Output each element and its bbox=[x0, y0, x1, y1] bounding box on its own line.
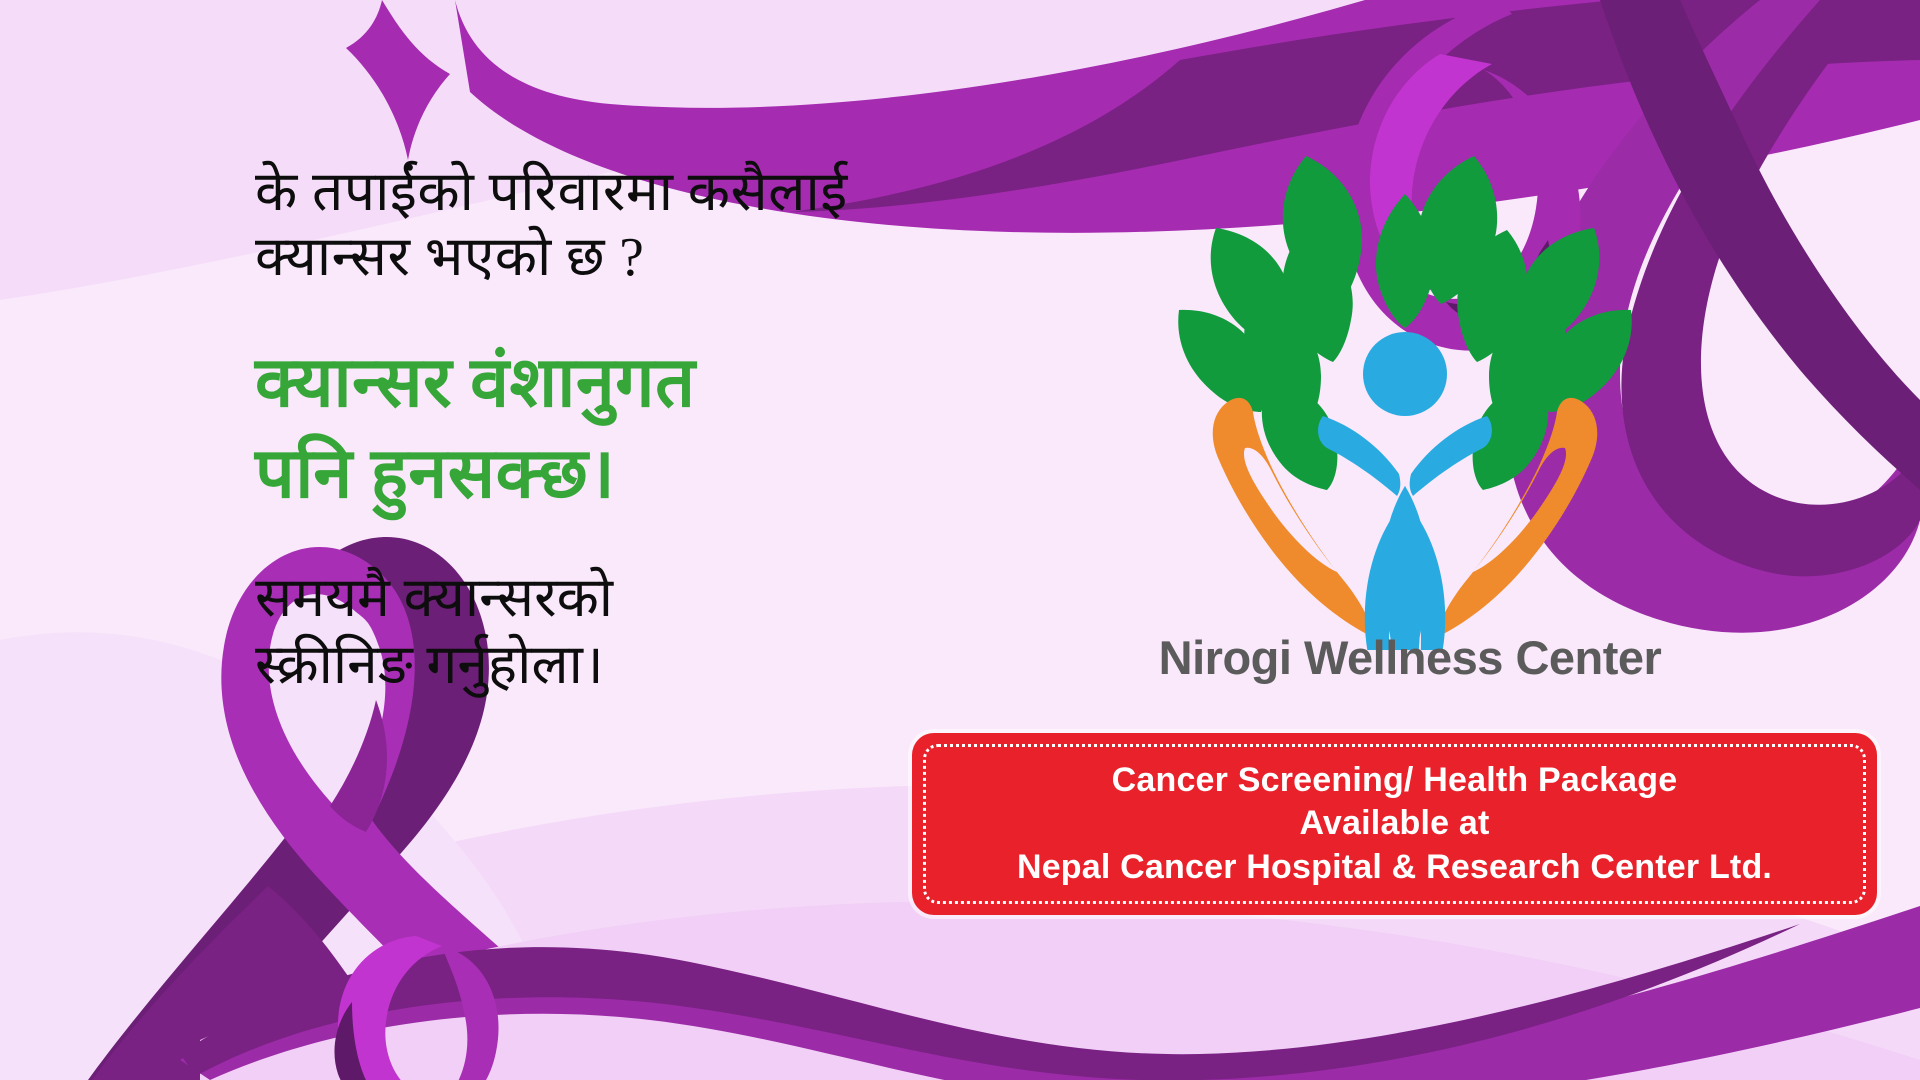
nepali-advice-text: समयमै क्यान्सरको स्क्रीनिङ गर्नुहोला। bbox=[255, 564, 1175, 698]
tree-person-hands-icon bbox=[1175, 130, 1635, 650]
nirogi-tree-logo bbox=[1175, 130, 1635, 650]
nepali-text-block: के तपाईंको परिवारमा कसैलाई क्यान्सर भएको… bbox=[255, 160, 1175, 698]
poster-canvas: के तपाईंको परिवारमा कसैलाई क्यान्सर भएको… bbox=[0, 0, 1920, 1080]
banner-line-2: Available at bbox=[1299, 802, 1489, 846]
person-head bbox=[1363, 332, 1447, 416]
banner-dotted-border: Cancer Screening/ Health Package Availab… bbox=[923, 744, 1866, 904]
red-promo-banner[interactable]: Cancer Screening/ Health Package Availab… bbox=[912, 733, 1877, 915]
brand-name-label: Nirogi Wellness Center bbox=[1110, 630, 1710, 685]
banner-line-3: Nepal Cancer Hospital & Research Center … bbox=[1017, 846, 1772, 890]
banner-line-1: Cancer Screening/ Health Package bbox=[1112, 759, 1678, 803]
nepali-headline-text: क्यान्सर वंशानुगत पनि हुनसक्छ। bbox=[255, 338, 1175, 520]
nepali-question-text: के तपाईंको परिवारमा कसैलाई क्यान्सर भएको… bbox=[255, 160, 1175, 290]
